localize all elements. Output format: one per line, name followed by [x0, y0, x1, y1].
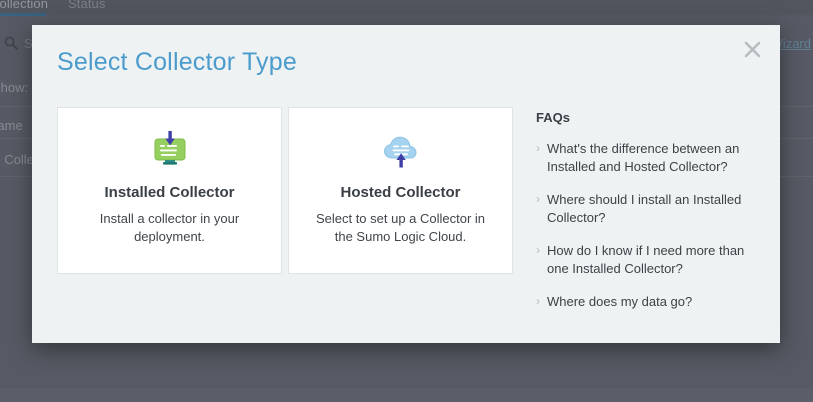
card-title: Installed Collector [104, 184, 234, 201]
card-description: Install a collector in your deployment. [81, 210, 259, 246]
chevron-right-icon: › [536, 293, 547, 310]
card-description: Select to set up a Collector in the Sumo… [312, 210, 490, 246]
card-installed-collector[interactable]: Installed Collector Install a collector … [57, 107, 282, 274]
chevron-right-icon: › [536, 191, 547, 208]
card-hosted-collector[interactable]: Hosted Collector Select to set up a Coll… [288, 107, 513, 274]
faq-item-how-many[interactable]: › How do I know if I need more than one … [536, 242, 757, 278]
faq-panel: FAQs › What's the difference between an … [536, 107, 757, 326]
faq-heading: FAQs [536, 110, 757, 125]
installed-collector-icon [146, 130, 194, 172]
card-title: Hosted Collector [340, 184, 460, 201]
chevron-right-icon: › [536, 140, 547, 157]
dialog-body: Installed Collector Install a collector … [57, 107, 757, 326]
faq-item-where-install[interactable]: › Where should I install an Installed Co… [536, 191, 757, 227]
collector-type-cards: Installed Collector Install a collector … [57, 107, 513, 274]
faq-item-data-destination[interactable]: › Where does my data go? [536, 293, 757, 311]
close-icon[interactable] [739, 36, 765, 62]
chevron-right-icon: › [536, 242, 547, 259]
dialog-title: Select Collector Type [57, 48, 297, 77]
faq-item-label: Where does my data go? [547, 293, 692, 311]
faq-item-label: Where should I install an Installed Coll… [547, 191, 757, 227]
select-collector-type-dialog: Select Collector Type [32, 25, 780, 343]
faq-item-label: How do I know if I need more than one In… [547, 242, 757, 278]
faq-item-difference[interactable]: › What's the difference between an Insta… [536, 140, 757, 176]
faq-item-label: What's the difference between an Install… [547, 140, 757, 176]
hosted-collector-icon [377, 130, 425, 172]
